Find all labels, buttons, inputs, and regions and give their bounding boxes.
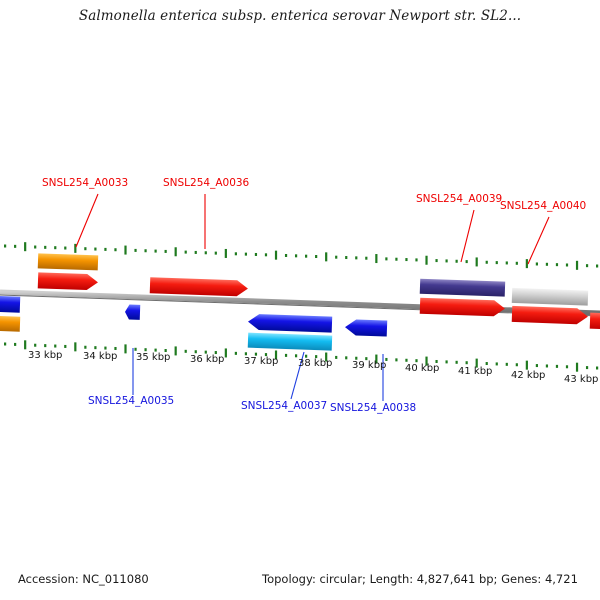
ruler-tick-label: 34 kbp <box>83 351 117 362</box>
gene-feature[interactable] <box>125 304 141 320</box>
gene-feature[interactable] <box>248 314 333 333</box>
gene-label-snsl254_a0036[interactable]: SNSL254_A0036 <box>163 177 250 189</box>
gene-feature[interactable] <box>512 288 588 306</box>
ruler-tick-label: 39 kbp <box>352 360 386 371</box>
gene-label-snsl254_a0035[interactable]: SNSL254_A0035 <box>88 395 174 407</box>
gene-feature[interactable] <box>248 333 332 351</box>
genome-backbone-line <box>0 292 600 316</box>
gene-label-snsl254_a0033[interactable]: SNSL254_A0033 <box>42 177 128 189</box>
ruler-tick-label: 33 kbp <box>28 350 62 361</box>
gene-label-snsl254_a0037[interactable]: SNSL254_A0037 <box>241 400 327 412</box>
genome-stats-text: Topology: circular; Length: 4,827,641 bp… <box>262 572 578 586</box>
gene-feature[interactable] <box>150 277 248 296</box>
accession-text: Accession: NC_011080 <box>18 572 149 586</box>
gene-feature[interactable] <box>512 306 589 325</box>
gene-label-snsl254_a0040[interactable]: SNSL254_A0040 <box>500 200 586 212</box>
gene-feature[interactable] <box>345 319 388 336</box>
ruler-tick-label: 35 kbp <box>136 352 170 363</box>
genome-map-viewer: Salmonella enterica subsp. enterica sero… <box>0 0 600 600</box>
coordinate-ruler: 33 kbp34 kbp35 kbp36 kbp37 kbp38 kbp39 k… <box>28 350 598 385</box>
gene-feature[interactable] <box>420 298 506 317</box>
ruler-tick-label: 41 kbp <box>458 366 492 377</box>
gene-label-snsl254_a0039[interactable]: SNSL254_A0039 <box>416 193 502 205</box>
ruler-tick-label: 42 kbp <box>511 370 545 381</box>
gene-label-snsl254_a0038[interactable]: SNSL254_A0038 <box>330 402 416 414</box>
ruler-tick-label: 36 kbp <box>190 354 224 365</box>
gene-feature[interactable] <box>38 272 99 290</box>
gene-feature[interactable] <box>590 313 600 329</box>
gene-feature[interactable] <box>420 279 505 297</box>
gene-feature[interactable] <box>38 253 98 270</box>
feature-map-canvas[interactable]: SNSL254_A0033SNSL254_A0036SNSL254_A0039S… <box>0 0 600 600</box>
ruler-tick-label: 43 kbp <box>564 374 598 385</box>
gene-feature[interactable] <box>0 296 20 313</box>
gene-feature[interactable] <box>0 316 20 332</box>
ruler-tick-label: 40 kbp <box>405 363 439 374</box>
ruler-tick-label: 38 kbp <box>298 358 332 369</box>
ruler-tick-label: 37 kbp <box>244 356 278 367</box>
